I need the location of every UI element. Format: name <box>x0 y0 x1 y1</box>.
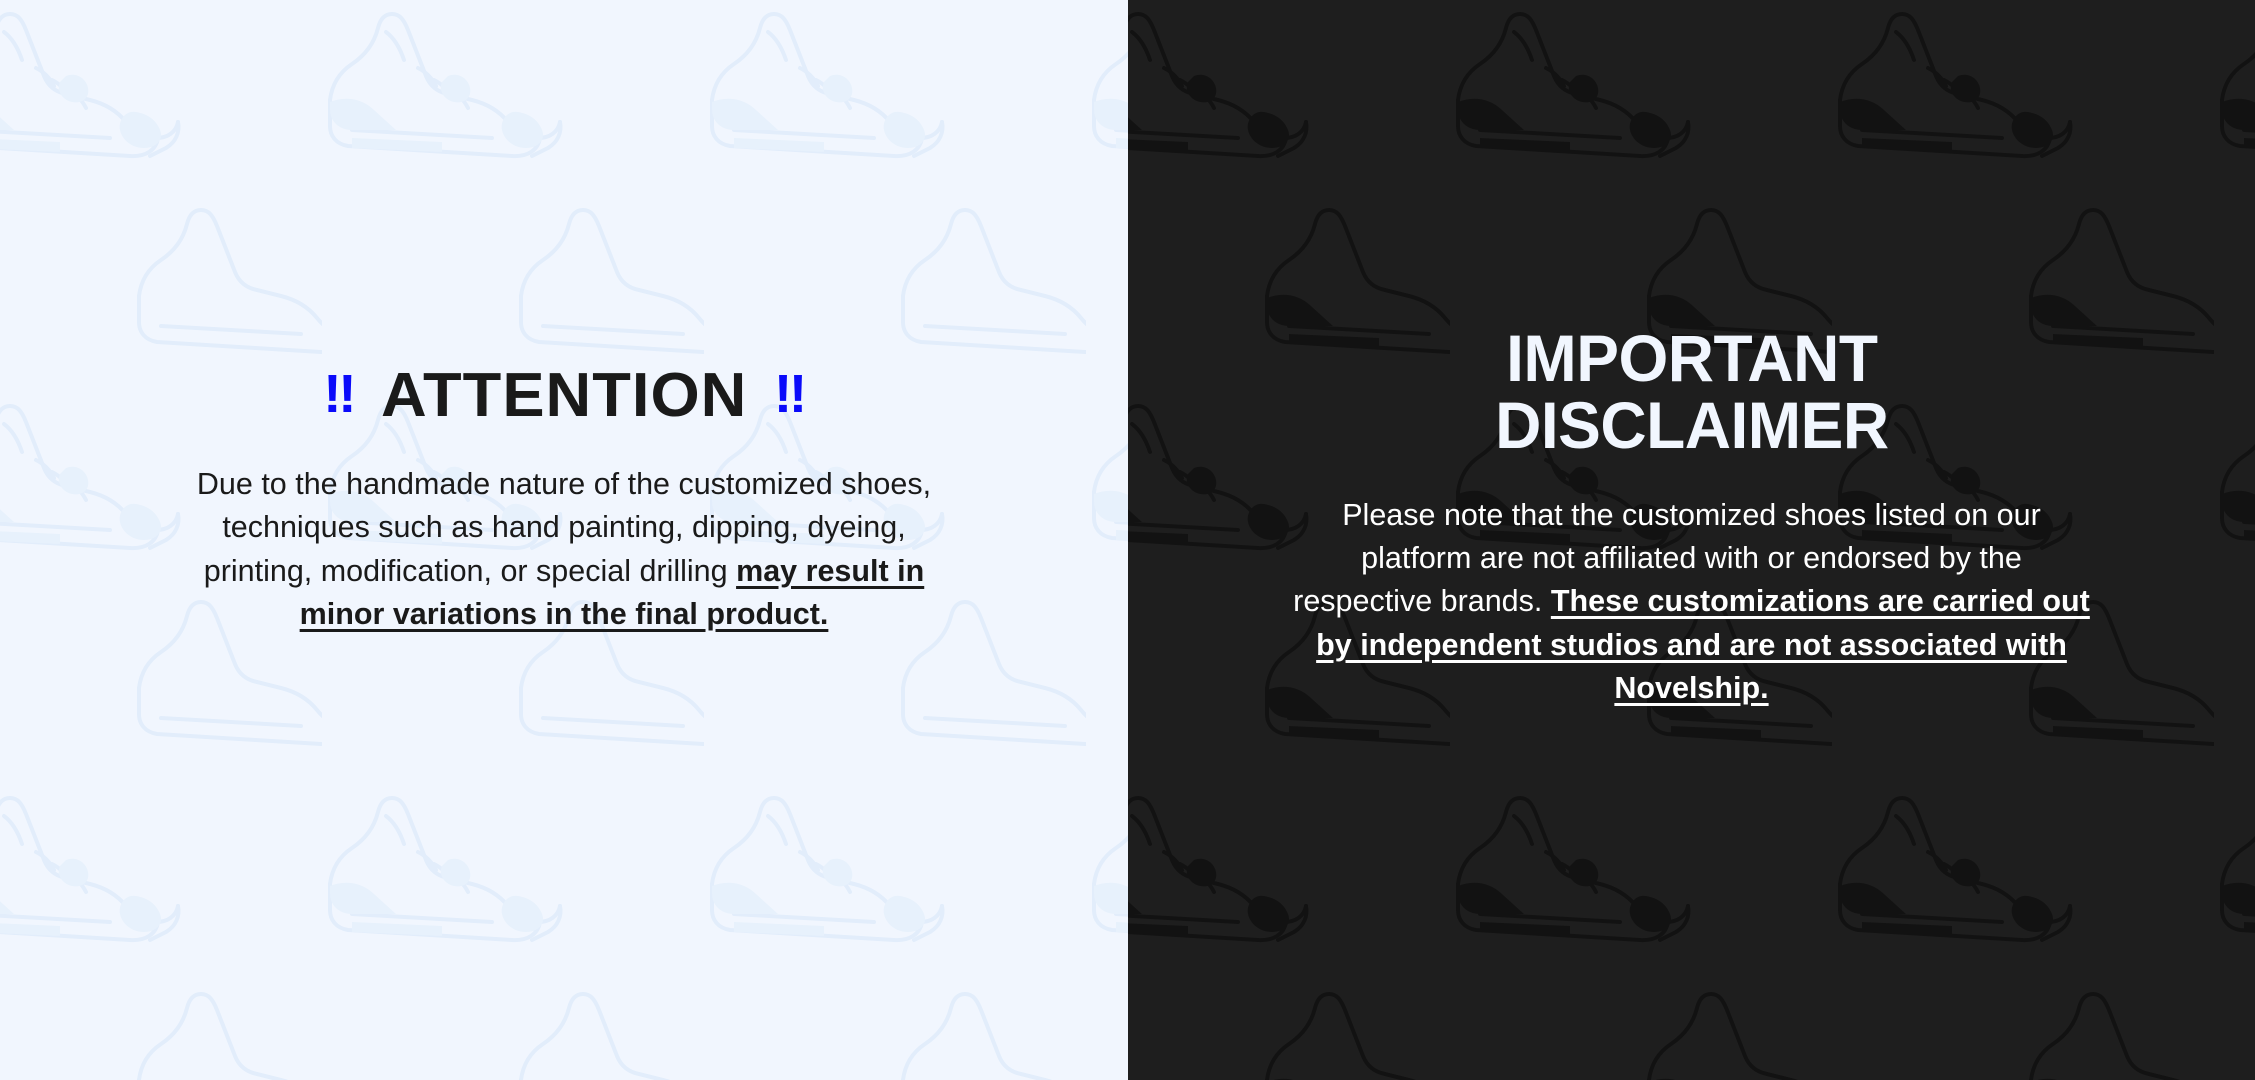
double-exclamation-left-icon: ‼ <box>323 367 354 421</box>
disclaimer-banner: ‼ ATTENTION ‼ Due to the handmade nature… <box>0 0 2255 1080</box>
attention-panel: ‼ ATTENTION ‼ Due to the handmade nature… <box>0 0 1128 1080</box>
disclaimer-heading-line-2: DISCLAIMER <box>1495 392 1889 459</box>
attention-content: ‼ ATTENTION ‼ Due to the handmade nature… <box>0 0 1128 636</box>
disclaimer-body: Please note that the customized shoes li… <box>1292 494 2092 710</box>
double-exclamation-right-icon: ‼ <box>774 367 805 421</box>
attention-body: Due to the handmade nature of the custom… <box>169 463 959 636</box>
attention-heading-text: ATTENTION <box>381 365 747 427</box>
disclaimer-heading: IMPORTANT DISCLAIMER <box>1495 325 1889 460</box>
disclaimer-content: IMPORTANT DISCLAIMER Please note that th… <box>1128 0 2255 710</box>
disclaimer-panel: IMPORTANT DISCLAIMER Please note that th… <box>1128 0 2255 1080</box>
attention-heading: ‼ ATTENTION ‼ <box>323 365 805 427</box>
disclaimer-heading-line-1: IMPORTANT <box>1495 325 1889 392</box>
